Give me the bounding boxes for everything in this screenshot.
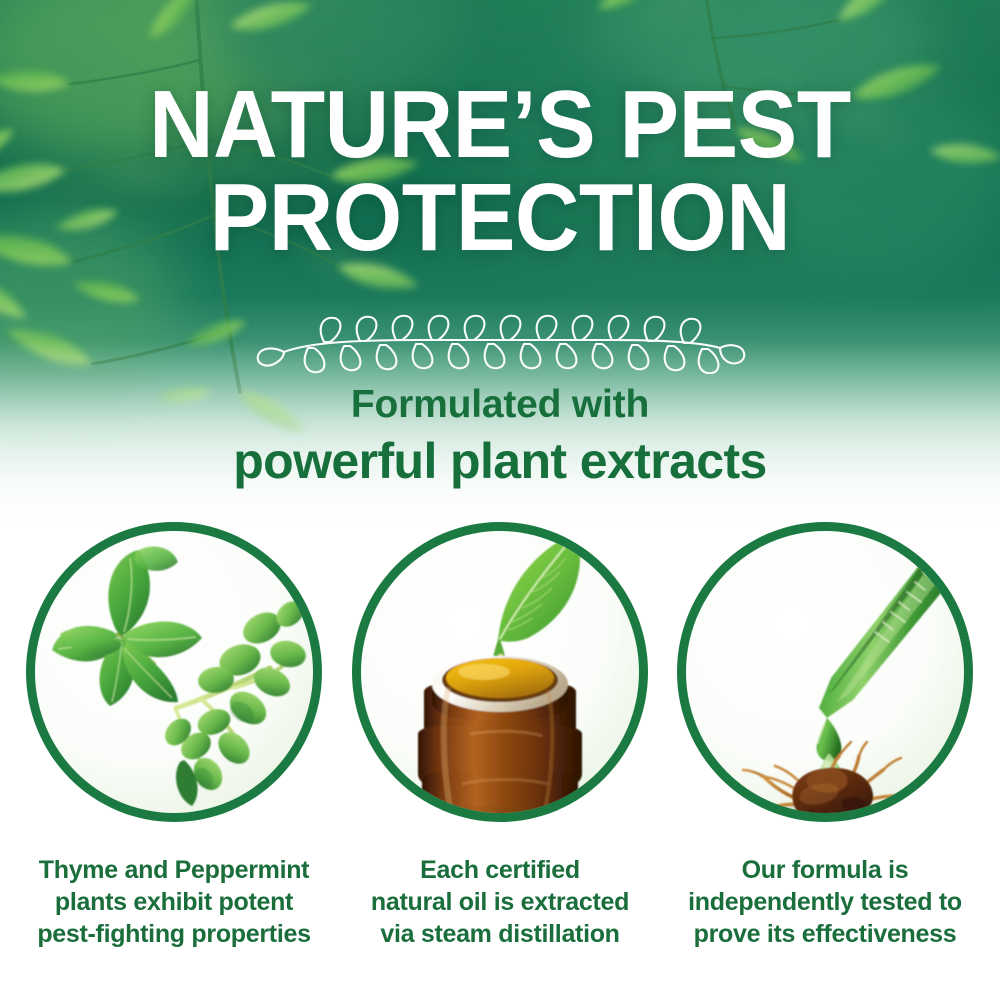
feature-row: Thyme and Peppermint plants exhibit pote… [0,522,1000,962]
caption-line: Our formula is [660,855,990,887]
headline-line-2: PROTECTION [35,171,965,264]
caption-line: natural oil is extracted [335,887,665,919]
headline-line-1: NATURE’S PEST [35,78,965,171]
feature-item-oil-jar: Each certified natural oil is extracted … [335,522,665,950]
subtitle-small-line: Formulated with [0,382,1000,428]
subtitle-block: Formulated with powerful plant extracts [0,382,1000,491]
subtitle-large-line: powerful plant extracts [0,431,1000,491]
caption-line: independently tested to [660,887,990,919]
caption-line: via steam distillation [335,919,665,951]
caption-line: prove its effectiveness [660,919,990,951]
laurel-vine-divider-icon [250,312,750,374]
feature-image-circle-pipette [677,522,973,822]
feature-item-lab-tested: Our formula is independently tested to p… [660,522,990,950]
feature-image-circle-oil-jar [352,522,648,822]
feature-item-herbs: Thyme and Peppermint plants exhibit pote… [9,522,339,950]
poster-canvas: NATURE’S PEST PROTECTION [0,0,1000,1000]
green-pipette-dropper-dead-bug-icon [677,522,973,822]
caption-line: Each certified [335,855,665,887]
caption-line: pest-fighting properties [9,919,339,951]
feature-image-circle-herbs [26,522,322,822]
feature-caption-herbs: Thyme and Peppermint plants exhibit pote… [9,855,339,950]
caption-line: plants exhibit potent [9,887,339,919]
feature-caption-oil-jar: Each certified natural oil is extracted … [335,855,665,950]
page-title: NATURE’S PEST PROTECTION [35,78,965,264]
feature-caption-lab-tested: Our formula is independently tested to p… [660,855,990,950]
caption-line: Thyme and Peppermint [9,855,339,887]
amber-oil-jar-leaf-droplet-icon [352,522,648,822]
peppermint-thyme-herbs-icon [26,522,322,822]
